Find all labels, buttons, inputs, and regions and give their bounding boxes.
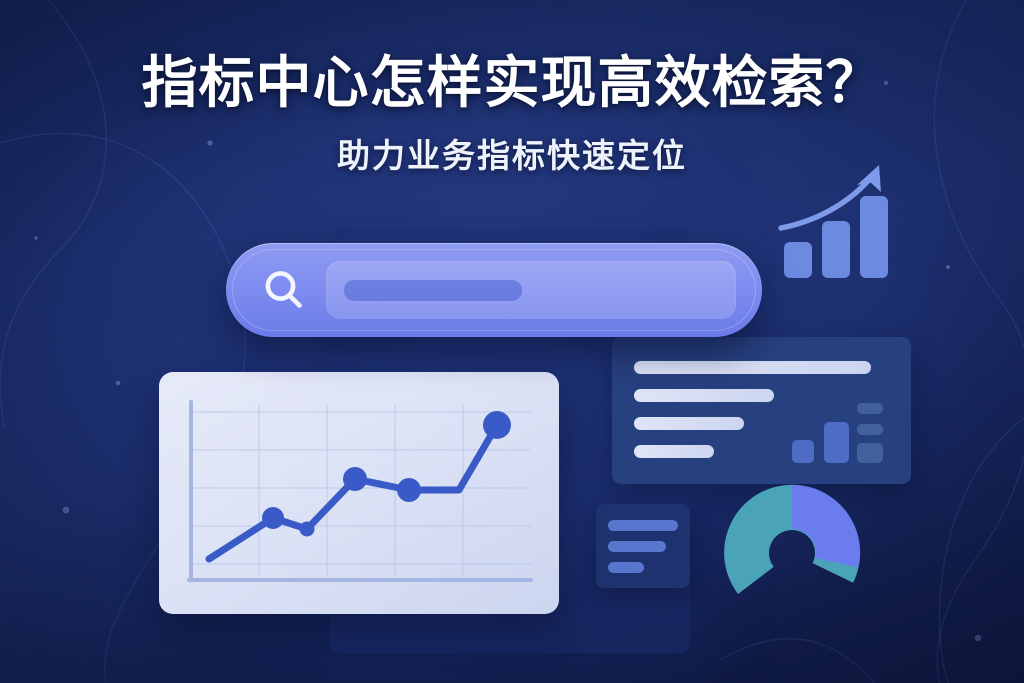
dashboard-legend-chip	[857, 424, 883, 435]
banner-canvas: 指标中心怎样实现高效检索？ 助力业务指标快速定位	[0, 0, 1024, 683]
chart-series-line	[209, 425, 497, 559]
list-card	[596, 504, 690, 588]
dashboard-text-line	[634, 389, 774, 402]
search-icon[interactable]	[260, 266, 308, 314]
donut-chart-icon	[718, 479, 866, 627]
dashboard-text-line	[634, 445, 714, 458]
search-input[interactable]	[326, 261, 736, 319]
search-bar[interactable]	[226, 243, 762, 337]
page-subtitle: 助力业务指标快速定位	[0, 129, 1024, 177]
bar-chart-arrow-icon	[778, 160, 894, 282]
dashboard-text-line	[634, 361, 871, 374]
banner-heading-block: 指标中心怎样实现高效检索？ 助力业务指标快速定位	[0, 52, 1024, 177]
line-chart	[159, 372, 559, 614]
dashboard-legend-chip	[857, 443, 883, 463]
chart-data-points	[262, 411, 511, 537]
donut-segment-purple	[792, 485, 860, 567]
chart-axes	[189, 402, 531, 580]
page-title: 指标中心怎样实现高效检索？	[0, 52, 1024, 115]
chart-gridlines	[191, 405, 531, 577]
dashboard-text-line	[634, 417, 744, 430]
list-card-line	[608, 541, 666, 552]
dashboard-mini-bar	[824, 422, 849, 463]
line-chart-card	[159, 372, 559, 614]
dashboard-mini-bar	[792, 440, 814, 463]
list-card-line	[608, 520, 678, 531]
search-placeholder-bar	[344, 280, 522, 301]
list-card-line	[608, 562, 644, 573]
dashboard-legend-chip	[857, 403, 883, 414]
dashboard-panel	[612, 337, 911, 484]
